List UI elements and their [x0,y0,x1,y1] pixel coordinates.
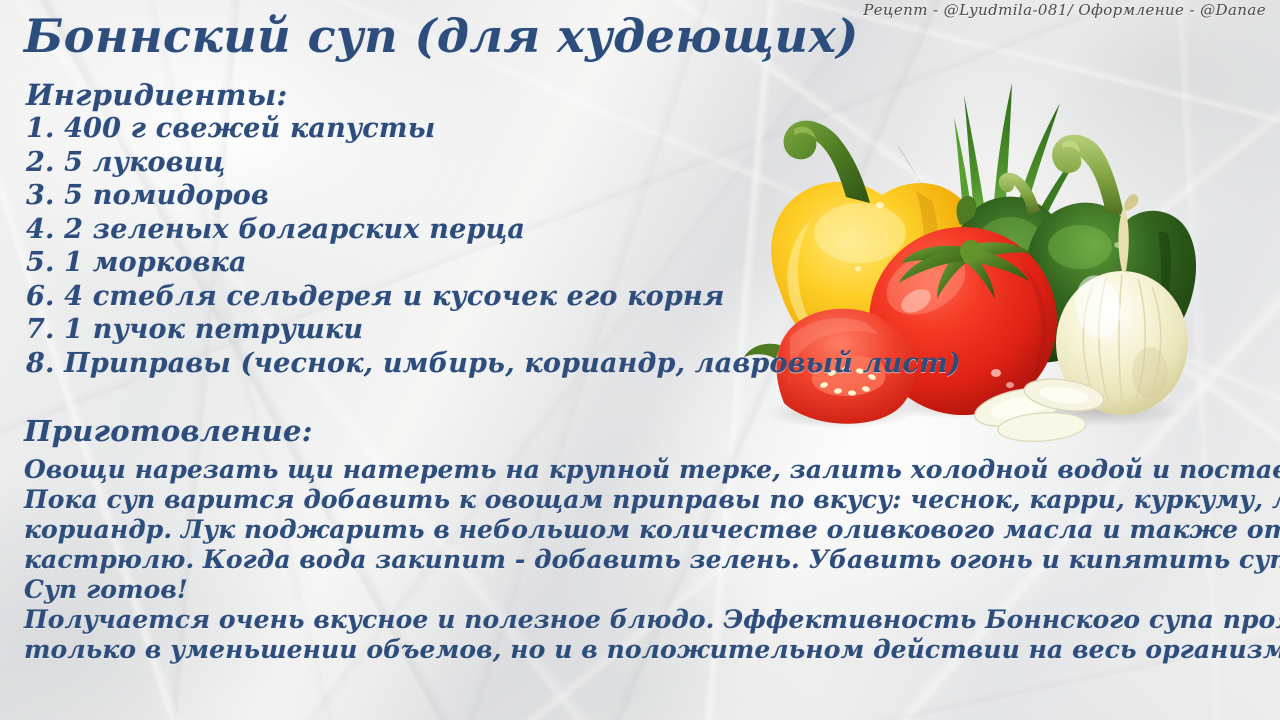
preparation-line: Получается очень вкусное и полезное блюд… [24,605,1269,635]
page-title: Боннский суп (для худеющих) [24,8,859,64]
preparation-line: кориандр. Лук поджарить в небольшом коли… [24,515,1269,545]
preparation-line: кастрюлю. Когда вода закипит - добавить … [24,545,1269,575]
recipe-card: Рецепт - @Lyudmila-081/ Оформление - @Da… [0,0,1280,720]
preparation-heading: Приготовление: [24,414,1269,448]
ingredient-item: 1. 400 г свежей капусты [26,112,961,146]
ingredient-item: 3. 5 помидоров [26,179,961,213]
ingredients-section: Ингридиенты: 1. 400 г свежей капусты 2. … [26,78,961,380]
preparation-line: Овощи нарезать щи натереть на крупной те… [24,455,1269,485]
preparation-line: только в уменьшении объемов, но и в поло… [24,635,1269,665]
ingredient-item: 4. 2 зеленых болгарских перца [26,213,961,247]
ingredients-heading: Ингридиенты: [26,78,961,112]
ingredient-item: 2. 5 луковиц [26,146,961,180]
credit-line: Рецепт - @Lyudmila-081/ Оформление - @Da… [863,1,1266,19]
ingredient-item: 7. 1 пучок петрушки [26,313,961,347]
ingredient-item: 8. Приправы (чеснок, имбирь, кориандр, л… [26,347,961,381]
ingredient-item: 6. 4 стебля сельдерея и кусочек его корн… [26,280,961,314]
ingredient-item: 5. 1 морковка [26,246,961,280]
preparation-section: Приготовление: Овощи нарезать щи натерет… [24,414,1269,665]
preparation-line: Пока суп варится добавить к овощам припр… [24,485,1269,515]
preparation-line: Суп готов! [24,575,1269,605]
